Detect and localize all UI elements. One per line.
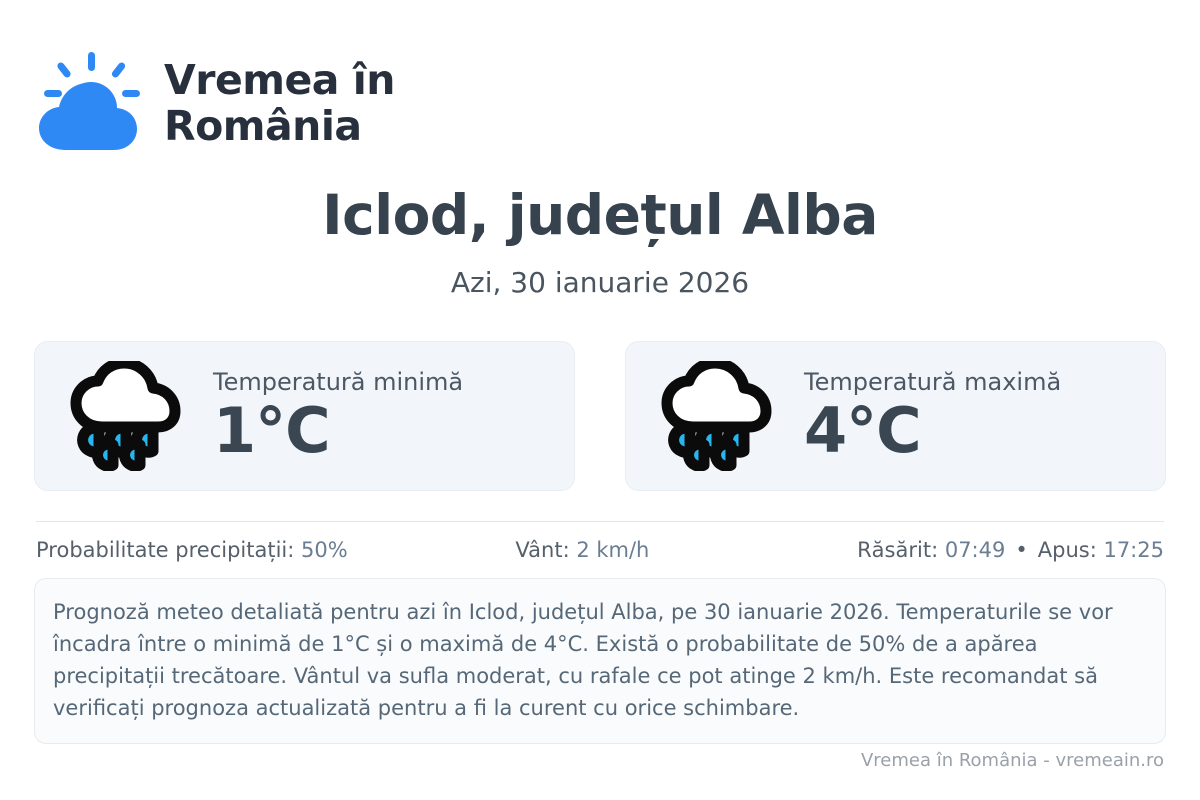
footer-credit: Vremea în România - vremeain.ro [861,750,1164,771]
cloud-rain-icon [69,361,191,471]
min-temperature-card: Temperatură minimă 1°C [34,341,575,491]
sunrise-value: 07:49 [945,538,1006,562]
temperature-cards: Temperatură minimă 1°C Temperatură maxim… [34,341,1166,491]
precipitation-stat: Probabilitate precipitații: 50% [36,538,348,562]
stats-row: Probabilitate precipitații: 50% Vânt: 2 … [36,538,1164,562]
wind-stat: Vânt: 2 km/h [515,538,649,562]
weather-page: Vremea în România Iclod, județul Alba Az… [0,0,1200,800]
title-block: Iclod, județul Alba Azi, 30 ianuarie 202… [0,185,1200,299]
cloud-rain-icon [660,361,782,471]
sunset-value: 17:25 [1103,538,1164,562]
page-date: Azi, 30 ianuarie 2026 [0,266,1200,299]
forecast-description-box: Prognoză meteo detaliată pentru azi în I… [34,578,1166,744]
wind-label: Vânt: [515,538,576,562]
page-title: Iclod, județul Alba [0,185,1200,246]
wind-value: 2 km/h [576,538,649,562]
precipitation-label: Probabilitate precipitații: [36,538,301,562]
min-temperature-label: Temperatură minimă [213,369,463,395]
max-temperature-value: 4°C [804,398,1061,463]
sun-behind-cloud-icon [36,52,146,156]
stats-divider [36,521,1164,522]
min-temperature-value: 1°C [213,398,463,463]
min-temperature-text: Temperatură minimă 1°C [213,369,463,462]
max-temperature-label: Temperatură maximă [804,369,1061,395]
sunset-label: Apus: [1038,538,1104,562]
forecast-description-text: Prognoză meteo detaliată pentru azi în I… [53,597,1143,725]
precipitation-value: 50% [301,538,348,562]
brand-header[interactable]: Vremea în România [36,52,395,156]
sunrise-label: Răsărit: [857,538,945,562]
bullet-separator-icon: • [1015,538,1027,562]
brand-name: Vremea în România [164,58,395,150]
sun-times-stat: Răsărit: 07:49•Apus: 17:25 [857,538,1164,562]
max-temperature-text: Temperatură maximă 4°C [804,369,1061,462]
max-temperature-card: Temperatură maximă 4°C [625,341,1166,491]
